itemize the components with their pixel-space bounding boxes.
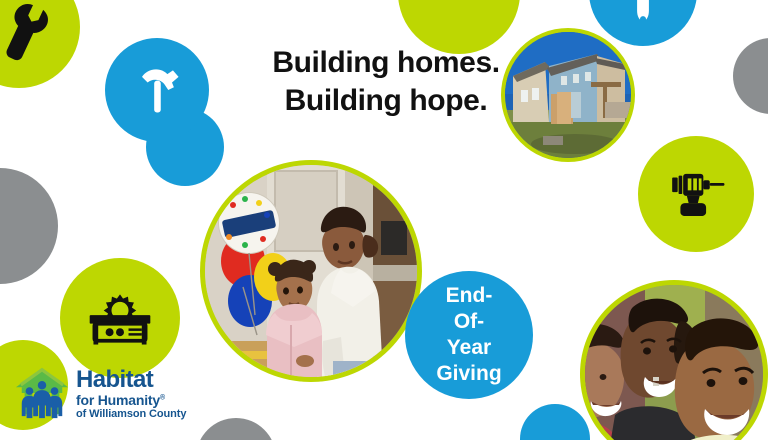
- headline-line-2: Building hope.: [236, 82, 536, 120]
- logo-for-humanity: for Humanity®: [76, 393, 186, 407]
- habitat-house-people-icon: [14, 366, 70, 425]
- page-title: Building homes. Building hope.: [236, 44, 536, 121]
- decor-circle-gray-right: [733, 38, 768, 114]
- badge-line-2: Of-: [454, 309, 484, 335]
- campaign-banner: Building homes. Building hope. End- Of- …: [0, 0, 768, 440]
- registered-mark: ®: [160, 394, 165, 401]
- end-of-year-giving-badge[interactable]: End- Of- Year Giving: [405, 271, 533, 399]
- photo-family-balloons: [200, 160, 422, 382]
- badge-line-1: End-: [446, 283, 493, 309]
- wrench-icon: [0, 0, 65, 71]
- drill-icon: [663, 161, 729, 227]
- badge-line-4: Giving: [436, 361, 501, 387]
- hammer-icon: [127, 60, 187, 120]
- logo-habitat-word: Habitat: [76, 368, 186, 392]
- drill-icon-circle: [638, 136, 754, 252]
- photo-children: [580, 280, 768, 440]
- habitat-logo[interactable]: Habitat for Humanity® of Williamson Coun…: [14, 366, 186, 425]
- table-saw-icon: [84, 285, 156, 351]
- decor-circle-gray-left: [0, 168, 58, 284]
- wrench-icon-circle: [0, 0, 80, 88]
- decor-circle-blue-bottomright: [520, 404, 590, 440]
- paintbrush-icon: [616, 0, 670, 31]
- hammer-icon-circle: [105, 38, 209, 142]
- table-saw-icon-circle: [60, 258, 180, 378]
- decor-circle-gray-bottom: [196, 418, 276, 440]
- photo-children-image: [585, 285, 763, 440]
- badge-line-3: Year: [447, 335, 491, 361]
- habitat-logo-text: Habitat for Humanity® of Williamson Coun…: [76, 368, 186, 420]
- photo-family-balloons-image: [205, 165, 417, 377]
- headline-line-1: Building homes.: [236, 44, 536, 82]
- logo-affiliate: of Williamson County: [76, 409, 186, 420]
